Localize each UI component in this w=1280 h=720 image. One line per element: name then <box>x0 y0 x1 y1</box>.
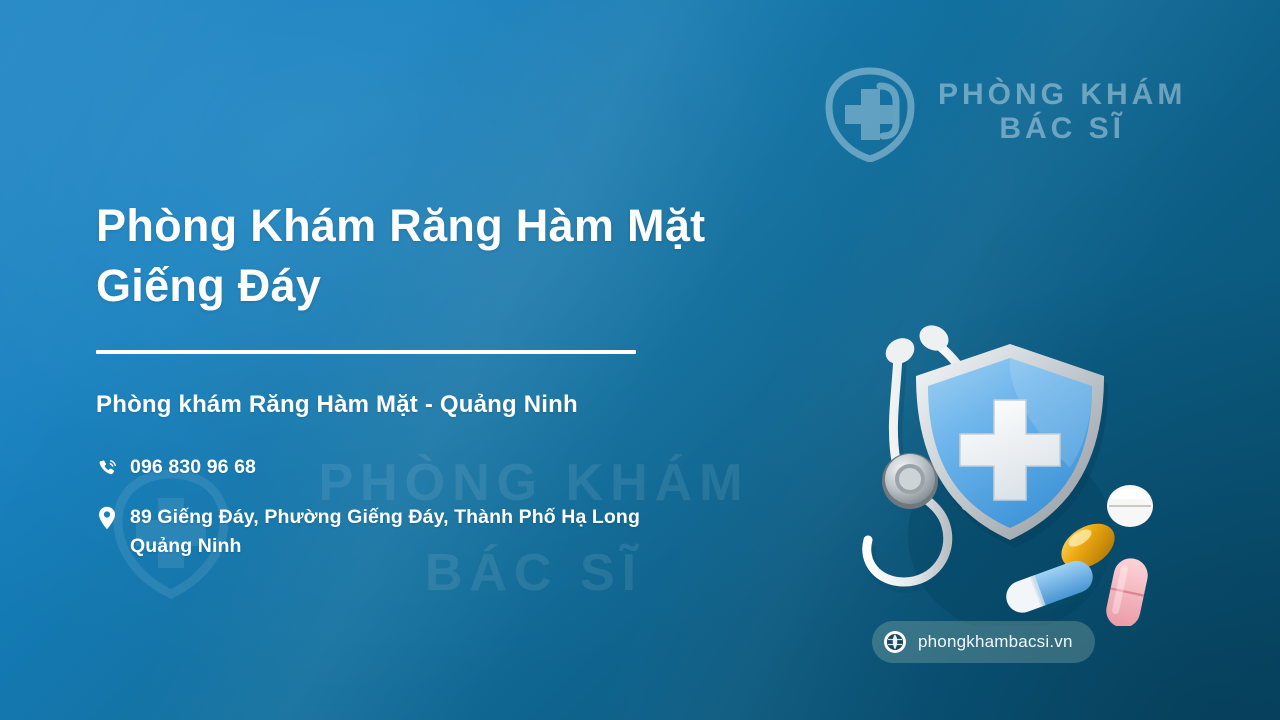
logo-mark-icon <box>818 62 922 162</box>
title-divider <box>96 350 636 354</box>
page-subtitle: Phòng khám Răng Hàm Mặt - Quảng Ninh <box>96 391 578 419</box>
logo-line2: BÁC SĨ <box>938 112 1186 146</box>
phone-number: 096 830 96 68 <box>130 453 256 481</box>
logo-text: PHÒNG KHÁM BÁC SĨ <box>938 78 1186 145</box>
website-badge[interactable]: phongkhambacsi.vn <box>872 621 1095 663</box>
pill-pink-capsule <box>1103 555 1154 626</box>
page-title: Phòng Khám Răng Hàm Mặt Giếng Đáy <box>96 196 856 317</box>
contact-phone-row[interactable]: 096 830 96 68 <box>96 453 816 481</box>
phone-call-icon <box>96 453 118 481</box>
page-title-line1: Phòng Khám Răng Hàm Mặt <box>96 200 705 251</box>
medical-illustration <box>838 296 1168 626</box>
pill-white-round-tablet <box>1107 485 1156 534</box>
globe-icon <box>883 630 907 654</box>
contact-address-row[interactable]: 89 Giếng Đáy, Phường Giếng Đáy, Thành Ph… <box>96 503 816 560</box>
address-line2: Quảng Ninh <box>130 535 242 557</box>
page-title-line2: Giếng Đáy <box>96 256 856 316</box>
address: 89 Giếng Đáy, Phường Giếng Đáy, Thành Ph… <box>130 503 640 560</box>
logo-line1: PHÒNG KHÁM <box>938 78 1186 112</box>
address-line1: 89 Giếng Đáy, Phường Giếng Đáy, Thành Ph… <box>130 506 640 528</box>
location-pin-icon <box>96 503 118 531</box>
clinic-banner: PHÒNG KHÁM BÁC SĨ PHÒNG KHÁM BÁC SĨ Phòn… <box>0 0 1280 720</box>
website-url: phongkhambacsi.vn <box>918 632 1073 652</box>
brand-logo: PHÒNG KHÁM BÁC SĨ <box>818 62 1186 162</box>
contact-info: 096 830 96 68 89 Giếng Đáy, Phường Giếng… <box>96 453 816 582</box>
